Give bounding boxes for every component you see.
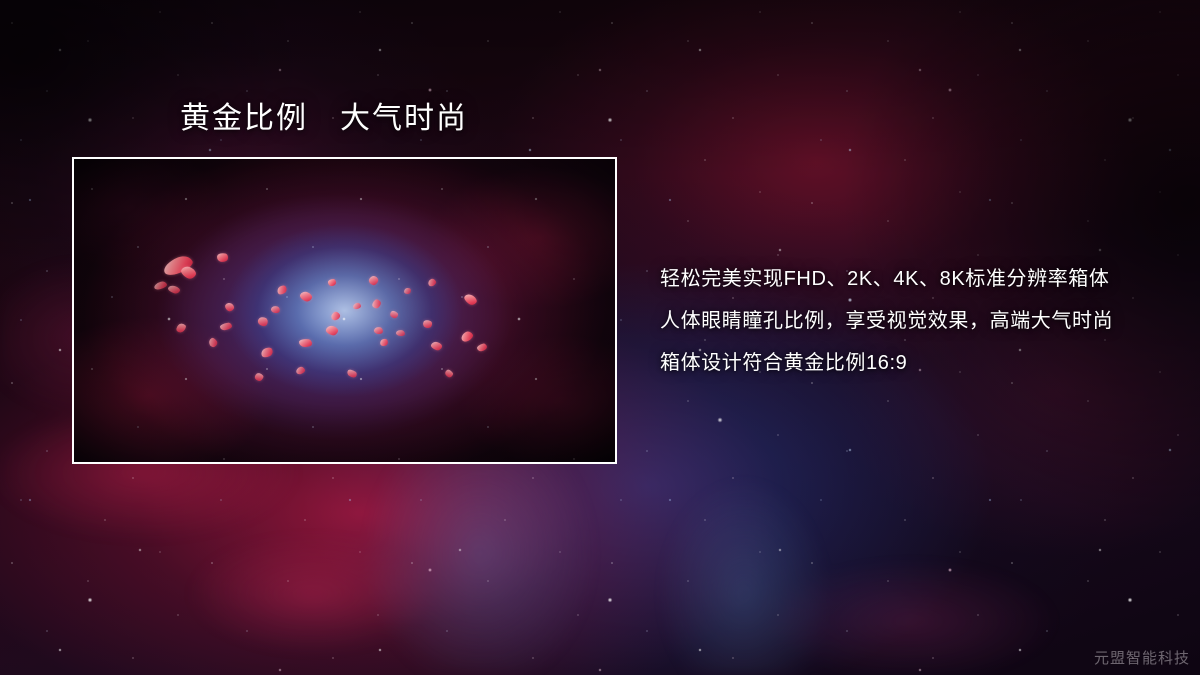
photo-vignette [74, 159, 615, 462]
watermark: 元盟智能科技 [1094, 647, 1190, 668]
description-block: 轻松完美实现FHD、2K、4K、8K标准分辨率箱体 人体眼睛瞳孔比例，享受视觉效… [660, 258, 1180, 384]
photo-image [74, 159, 615, 462]
page-title: 黄金比例 大气时尚 [180, 101, 468, 136]
description-line-2: 人体眼睛瞳孔比例，享受视觉效果，高端大气时尚 [660, 300, 1180, 342]
framed-photo [72, 157, 617, 464]
description-line-3: 箱体设计符合黄金比例16:9 [660, 342, 1180, 384]
slide-canvas: 黄金比例 大气时尚 轻松完美实现FHD、2K、4K、8K标准分辨率箱体 人体眼睛… [0, 0, 1200, 675]
description-line-1: 轻松完美实现FHD、2K、4K、8K标准分辨率箱体 [660, 258, 1180, 300]
